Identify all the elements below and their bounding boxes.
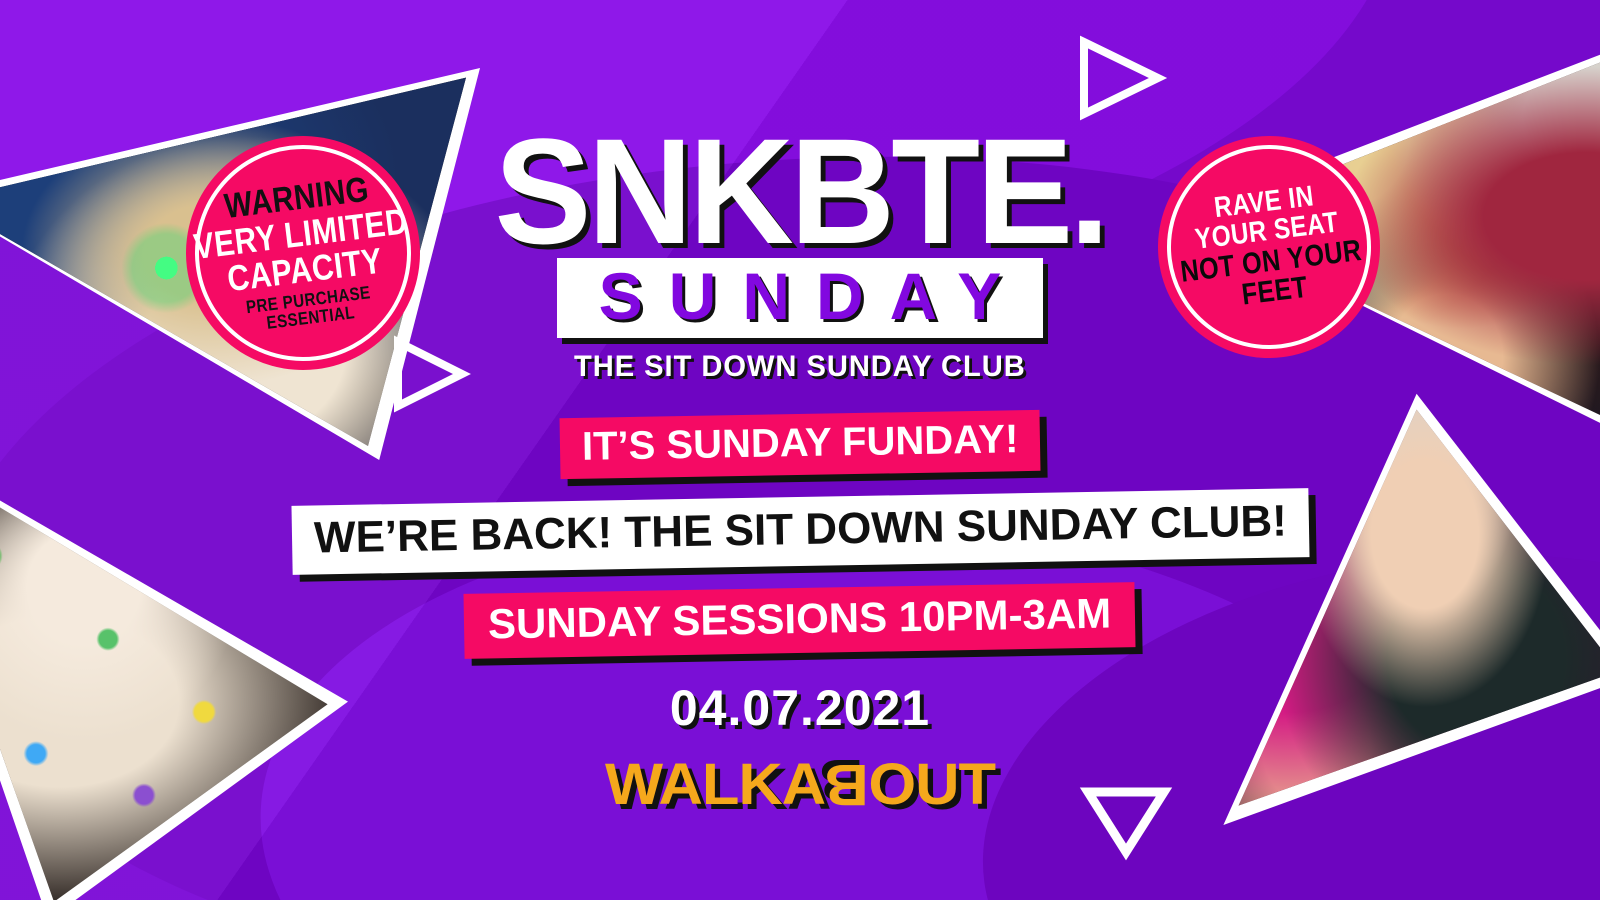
brand-tagline: THE SIT DOWN SUNDAY CLUB [574, 350, 1026, 384]
center-lockup: SNKBTE. SUNDAY THE SIT DOWN SUNDAY CLUB … [0, 0, 1600, 818]
banner-were-back: WE’RE BACK! THE SIT DOWN SUNDAY CLUB! [291, 488, 1309, 575]
brand-logo-main: SNKBTE. [494, 128, 1105, 254]
event-flyer: WARNING VERY LIMITED CAPACITY PRE PURCHA… [0, 0, 1600, 900]
venue-logo-flipped-b: B [825, 751, 868, 818]
venue-logo-walkabout: WALKABOUT [605, 751, 995, 818]
banner-sunday-sessions: SUNDAY SESSIONS 10PM-3AM [464, 582, 1136, 659]
venue-logo-part-1: WALKA [605, 751, 825, 818]
event-date: 04.07.2021 [670, 679, 930, 737]
venue-logo-part-2: OUT [868, 751, 995, 818]
banner-sunday-funday: IT’S SUNDAY FUNDAY! [559, 410, 1040, 479]
